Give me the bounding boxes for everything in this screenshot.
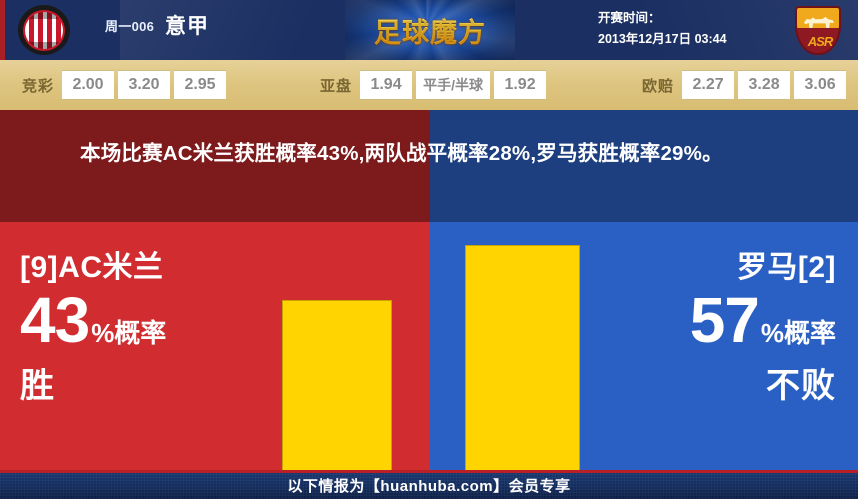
odds-group-title: 欧赔 [634,75,682,96]
odds-value[interactable]: 1.94 [360,70,412,100]
odds-group-title: 竞彩 [14,75,62,96]
odds-value[interactable]: 2.27 [682,70,734,100]
as-roma-crest-icon: ASR [795,6,841,55]
match-round-label: 周一006 [105,16,154,35]
header-bar: 周一006 意甲 足球魔方 开赛时间： 2013年12月17日 03:44 AS… [0,0,858,60]
odds-value[interactable]: 2.95 [174,70,226,100]
away-probability-row: 57 %概率 [566,288,836,352]
footer-text: 以下情报为【huanhuba.com】会员专享 [287,475,570,496]
she-wolf-icon [804,15,834,28]
odds-group-title: 亚盘 [312,75,360,96]
away-probability-number: 57 [690,288,759,352]
odds-value[interactable]: 1.92 [494,70,546,100]
summary-banner: 本场比赛AC米兰获胜概率43%,两队战平概率28%,罗马获胜概率29%。 [0,110,858,222]
site-logo[interactable]: 足球魔方 [345,0,515,60]
home-team-block: [9]AC米兰 43 %概率 胜 [20,242,280,407]
league-name-label: 意甲 [165,10,209,40]
home-team-name: [9]AC米兰 [20,242,280,286]
home-probability-suffix: %概率 [91,313,166,350]
kickoff-value: 2013年12月17日 03:44 [598,29,768,50]
ac-milan-crest-icon [18,5,70,55]
away-team-name: 罗马[2] [566,242,836,286]
odds-group-yapan: 亚盘 1.94 平手/半球 1.92 [312,60,550,110]
odds-value[interactable]: 3.06 [794,70,846,100]
kickoff-time-block: 开赛时间： 2013年12月17日 03:44 [598,8,768,50]
footer-red-line [0,470,858,473]
home-probability-number: 43 [20,288,89,352]
header-sheen-left [120,0,380,60]
summary-text: 本场比赛AC米兰获胜概率43%,两队战平概率28%,罗马获胜概率29%。 [80,136,780,172]
odds-value[interactable]: 3.20 [118,70,170,100]
site-logo-text: 足球魔方 [345,0,515,60]
home-verdict: 胜 [20,358,280,407]
footer-bar: 以下情报为【huanhuba.com】会员专享 [0,470,858,499]
as-roma-shield: ASR [795,6,841,55]
odds-bar: 竞彩 2.00 3.20 2.95 亚盘 1.94 平手/半球 1.92 欧赔 … [0,60,858,110]
match-prediction-graphic: 周一006 意甲 足球魔方 开赛时间： 2013年12月17日 03:44 AS… [0,0,858,499]
kickoff-label: 开赛时间： [598,8,768,29]
away-team-block: 罗马[2] 57 %概率 不败 [566,242,836,407]
ac-milan-crest-stripes [23,10,65,51]
away-probability-bar [465,245,580,470]
home-probability-row: 43 %概率 [20,288,280,352]
away-verdict: 不败 [566,358,836,407]
header-left-red-edge [0,0,5,60]
prediction-panels: [9]AC米兰 43 %概率 胜 罗马[2] 57 %概率 不败 [0,222,858,470]
away-probability-suffix: %概率 [761,313,836,350]
odds-group-oupei: 欧赔 2.27 3.28 3.06 [634,60,850,110]
as-roma-monogram: ASR [797,34,841,49]
home-probability-bar [282,300,392,470]
odds-value[interactable]: 3.28 [738,70,790,100]
odds-value[interactable]: 2.00 [62,70,114,100]
odds-handicap-value[interactable]: 平手/半球 [416,70,490,100]
odds-group-jingcai: 竞彩 2.00 3.20 2.95 [14,60,230,110]
